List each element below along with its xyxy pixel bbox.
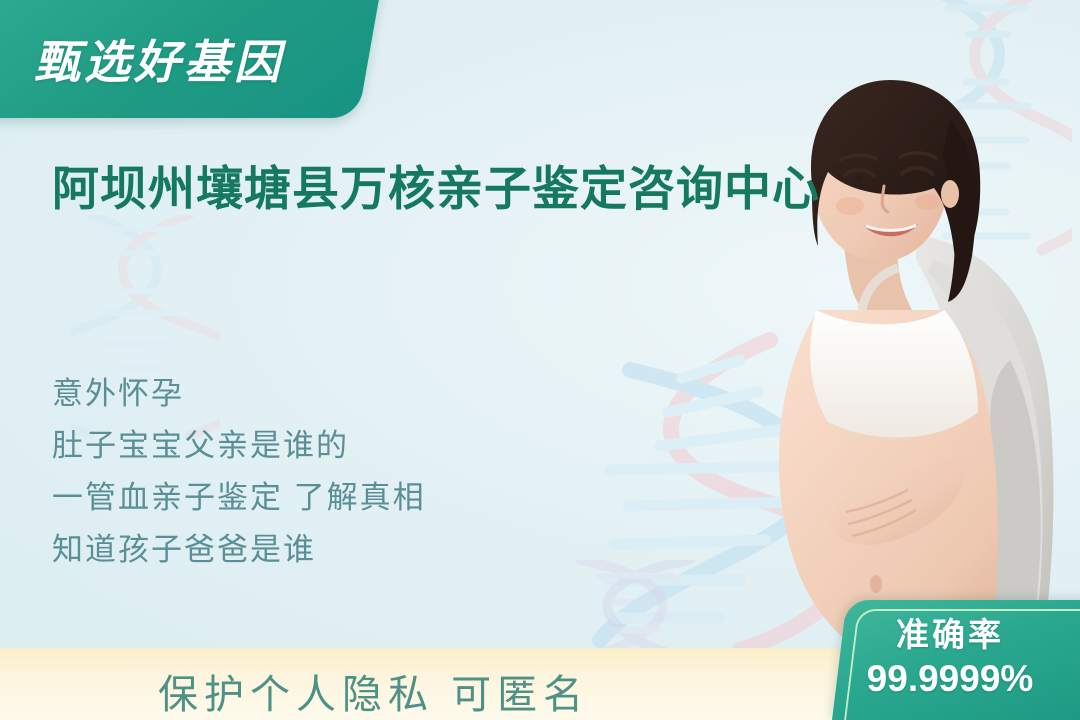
accuracy-badge [832,600,1080,720]
dna-helix-icon [902,0,1072,290]
copy-list: 意外怀孕 肚子宝宝父亲是谁的 一管血亲子鉴定 了解真相 知道孩子爸爸是谁 [52,368,672,576]
list-item: 一管血亲子鉴定 了解真相 [52,472,672,524]
brand-ribbon-text: 甄选好基因 [34,26,284,92]
list-item: 知道孩子爸爸是谁 [52,524,672,576]
list-item: 意外怀孕 [52,368,672,420]
list-item: 肚子宝宝父亲是谁的 [52,420,672,472]
page-title: 阿坝州壤塘县万核亲子鉴定咨询中心 [52,160,852,218]
brand-ribbon-content: 甄选好基因 [0,0,370,118]
privacy-text: 保护个人隐私 可匿名 [158,662,589,720]
banner-canvas: 甄选好基因 阿坝州壤塘县万核亲子鉴定咨询中心 意外怀孕 肚子宝宝父亲是谁的 一管… [0,0,1080,720]
